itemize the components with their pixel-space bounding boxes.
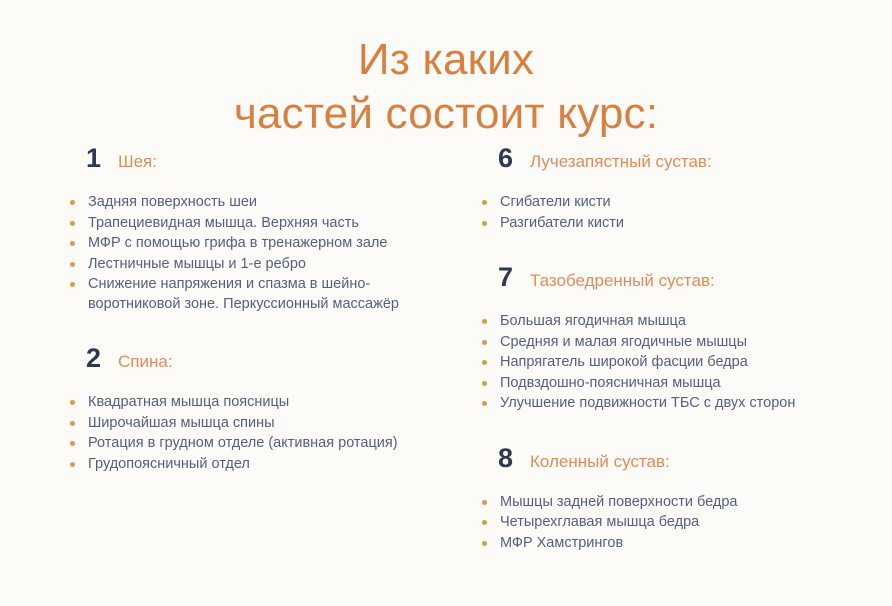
section-header: 2 Спина:	[86, 344, 458, 373]
bullet-dot-icon	[70, 282, 75, 287]
list-item: Снижение напряжения и спазма в шейно-вор…	[66, 275, 458, 314]
bullet-dot-icon	[70, 441, 75, 446]
bullet-dot-icon	[482, 401, 487, 406]
list-item-label: Большая ягодичная мышца	[500, 313, 686, 329]
bullet-dot-icon	[70, 462, 75, 467]
page-title: Из каких частей состоит курс:	[0, 33, 892, 141]
section-block: 7 Тазобедренный сустав: Большая ягодична…	[478, 263, 882, 414]
list-item: Квадратная мышца поясницы	[66, 393, 458, 413]
list-item: Четырехглавая мышца бедра	[478, 513, 882, 533]
bullet-dot-icon	[70, 221, 75, 226]
bullet-dot-icon	[482, 500, 487, 505]
section-item-list: Большая ягодичная мышца Средняя и малая …	[478, 312, 882, 414]
section-item-list: Сгибатели кисти Разгибатели кисти	[478, 193, 882, 233]
list-item-label: Трапециевидная мышца. Верхняя часть	[88, 215, 359, 231]
list-item-label: Задняя поверхность шеи	[88, 194, 257, 210]
bullet-dot-icon	[70, 421, 75, 426]
bullet-dot-icon	[482, 200, 487, 205]
list-item: Лестничные мышцы и 1-е ребро	[66, 255, 458, 275]
section-title: Коленный сустав:	[530, 451, 670, 473]
list-item: Улучшение подвижности ТБС с двух сторон	[478, 394, 882, 414]
bullet-dot-icon	[482, 520, 487, 525]
section-title: Тазобедренный сустав:	[530, 270, 715, 292]
bullet-dot-icon	[70, 262, 75, 267]
section-number: 2	[86, 344, 110, 373]
section-block: 2 Спина: Квадратная мышца поясницы Широч…	[66, 344, 458, 474]
list-item-label: Квадратная мышца поясницы	[88, 394, 289, 410]
list-item: Грудопоясничный отдел	[66, 455, 458, 475]
list-item-label: Снижение напряжения и спазма в шейно-вор…	[88, 276, 399, 312]
bullet-dot-icon	[70, 241, 75, 246]
bullet-dot-icon	[482, 221, 487, 226]
list-item: Большая ягодичная мышца	[478, 312, 882, 332]
section-item-list: Квадратная мышца поясницы Широчайшая мыш…	[66, 393, 458, 474]
section-number: 8	[498, 444, 522, 473]
section-number: 1	[86, 144, 110, 173]
section-header: 7 Тазобедренный сустав:	[498, 263, 882, 292]
section-header: 1 Шея:	[86, 144, 458, 173]
section-header: 8 Коленный сустав:	[498, 444, 882, 473]
list-item-label: Четырехглавая мышца бедра	[500, 514, 699, 530]
bullet-dot-icon	[70, 200, 75, 205]
left-column: 1 Шея: Задняя поверхность шеи Трапециеви…	[0, 144, 470, 475]
list-item: Широчайшая мышца спины	[66, 414, 458, 434]
bullet-dot-icon	[482, 319, 487, 324]
list-item-label: Подвздошно-поясничная мышца	[500, 375, 721, 391]
bullet-dot-icon	[482, 340, 487, 345]
list-item: МФР с помощью грифа в тренажерном зале	[66, 234, 458, 254]
list-item: Средняя и малая ягодичные мышцы	[478, 333, 882, 353]
section-title: Спина:	[118, 351, 173, 373]
list-item-label: Мышцы задней поверхности бедра	[500, 494, 738, 510]
list-item: МФР Хамстрингов	[478, 534, 882, 554]
right-column: 6 Лучезапястный сустав: Сгибатели кисти …	[470, 144, 892, 554]
list-item: Мышцы задней поверхности бедра	[478, 493, 882, 513]
course-parts-page: Из каких частей состоит курс: 1 Шея: Зад…	[0, 0, 892, 606]
section-block: 1 Шея: Задняя поверхность шеи Трапециеви…	[66, 144, 458, 314]
list-item-label: МФР Хамстрингов	[500, 535, 623, 551]
list-item: Разгибатели кисти	[478, 214, 882, 234]
list-item-label: Напрягатель широкой фасции бедра	[500, 354, 748, 370]
bullet-dot-icon	[70, 400, 75, 405]
section-block: 6 Лучезапястный сустав: Сгибатели кисти …	[478, 144, 882, 233]
section-header: 6 Лучезапястный сустав:	[498, 144, 882, 173]
list-item: Ротация в грудном отделе (активная ротац…	[66, 434, 458, 454]
section-number: 6	[498, 144, 522, 173]
bullet-dot-icon	[482, 541, 487, 546]
list-item: Задняя поверхность шеи	[66, 193, 458, 213]
list-item-label: Сгибатели кисти	[500, 194, 611, 210]
section-block: 8 Коленный сустав: Мышцы задней поверхно…	[478, 444, 882, 554]
section-title: Лучезапястный сустав:	[530, 151, 712, 173]
list-item-label: Средняя и малая ягодичные мышцы	[500, 334, 747, 350]
section-number: 7	[498, 263, 522, 292]
sections-columns: 1 Шея: Задняя поверхность шеи Трапециеви…	[0, 144, 892, 606]
list-item-label: Грудопоясничный отдел	[88, 456, 250, 472]
list-item: Сгибатели кисти	[478, 193, 882, 213]
list-item-label: Лестничные мышцы и 1-е ребро	[88, 256, 306, 272]
list-item-label: Улучшение подвижности ТБС с двух сторон	[500, 395, 795, 411]
bullet-dot-icon	[482, 381, 487, 386]
list-item: Подвздошно-поясничная мышца	[478, 374, 882, 394]
bullet-dot-icon	[482, 360, 487, 365]
section-item-list: Мышцы задней поверхности бедра Четырехгл…	[478, 493, 882, 554]
list-item-label: Разгибатели кисти	[500, 215, 624, 231]
list-item-label: МФР с помощью грифа в тренажерном зале	[88, 235, 387, 251]
list-item: Напрягатель широкой фасции бедра	[478, 353, 882, 373]
section-item-list: Задняя поверхность шеи Трапециевидная мы…	[66, 193, 458, 314]
list-item-label: Ротация в грудном отделе (активная ротац…	[88, 435, 398, 451]
list-item-label: Широчайшая мышца спины	[88, 415, 275, 431]
list-item: Трапециевидная мышца. Верхняя часть	[66, 214, 458, 234]
section-title: Шея:	[118, 151, 157, 173]
